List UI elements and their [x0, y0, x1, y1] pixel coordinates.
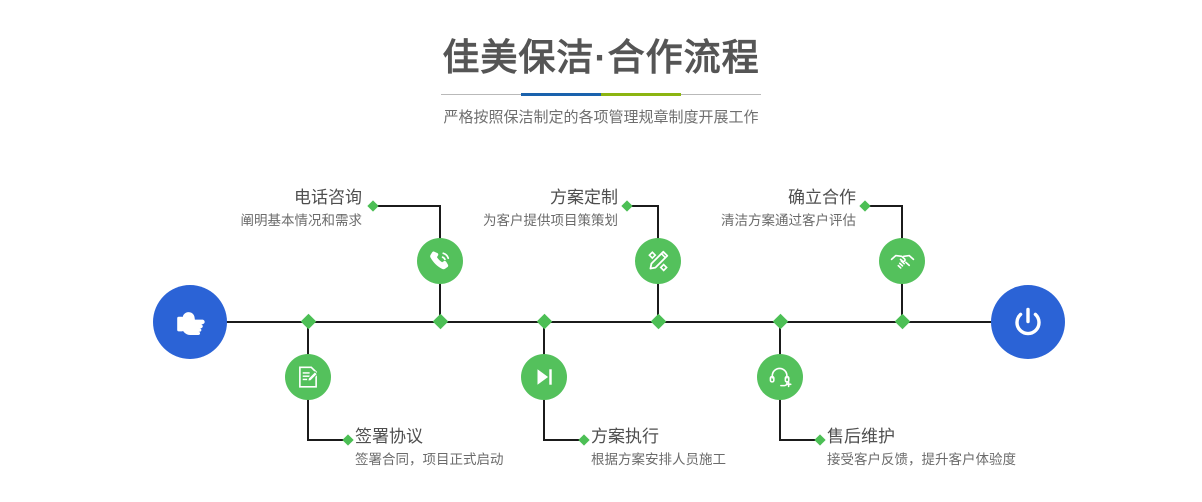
divider-segment-green: [601, 93, 681, 96]
connector-horizontal-plan-execution: [543, 439, 583, 441]
label-marker-phone-consultation: [367, 200, 378, 211]
handshake-icon: [889, 248, 916, 275]
node-label-phone-consultation: 电话咨询 阐明基本情况和需求: [210, 187, 362, 231]
pencil-ruler-icon: [645, 248, 671, 274]
connector-horizontal-sign-agreement: [307, 439, 347, 441]
node-icon-sign-agreement[interactable]: [285, 354, 331, 400]
node-desc-establish-cooperation: 清洁方案通过客户评估: [690, 211, 856, 231]
flowchart-page: 佳美保洁·合作流程 严格按照保洁制定的各项管理规章制度开展工作: [0, 0, 1202, 502]
node-icon-after-sales-maintenance[interactable]: [757, 354, 803, 400]
label-marker-sign-agreement: [342, 434, 353, 445]
axis-marker-sign-agreement: [301, 314, 317, 330]
document-pen-icon: [295, 364, 321, 390]
connector-horizontal-phone-consultation: [373, 205, 441, 207]
node-title-sign-agreement: 签署协议: [355, 426, 504, 448]
node-desc-phone-consultation: 阐明基本情况和需求: [210, 211, 362, 231]
node-title-plan-execution: 方案执行: [591, 426, 726, 448]
node-icon-plan-customization[interactable]: [635, 238, 681, 284]
pointing-hand-icon: [170, 302, 210, 342]
timeline-axis: [155, 321, 1047, 323]
node-label-plan-customization: 方案定制 为客户提供项目策策划: [452, 187, 618, 231]
play-skip-icon: [531, 364, 557, 390]
node-icon-establish-cooperation[interactable]: [879, 238, 925, 284]
node-label-sign-agreement: 签署协议 签署合同，项目正式启动: [355, 426, 504, 470]
title-divider: [441, 93, 761, 96]
node-title-establish-cooperation: 确立合作: [690, 187, 856, 209]
phone-call-icon: [426, 247, 454, 275]
node-desc-plan-customization: 为客户提供项目策策划: [452, 211, 618, 231]
node-icon-phone-consultation[interactable]: [417, 238, 463, 284]
node-label-establish-cooperation: 确立合作 清洁方案通过客户评估: [690, 187, 856, 231]
node-title-plan-customization: 方案定制: [452, 187, 618, 209]
axis-marker-establish-cooperation: [895, 314, 911, 330]
axis-marker-plan-execution: [537, 314, 553, 330]
node-desc-sign-agreement: 签署合同，项目正式启动: [355, 450, 504, 470]
node-desc-after-sales-maintenance: 接受客户反馈，提升客户体验度: [827, 450, 1016, 470]
timeline-start-cap[interactable]: [153, 285, 227, 359]
divider-segment-blue: [521, 93, 601, 96]
node-title-after-sales-maintenance: 售后维护: [827, 426, 1016, 448]
node-title-phone-consultation: 电话咨询: [210, 187, 362, 209]
label-marker-plan-customization: [621, 200, 632, 211]
page-subtitle: 严格按照保洁制定的各项管理规章制度开展工作: [0, 107, 1202, 129]
axis-marker-phone-consultation: [433, 314, 449, 330]
label-marker-after-sales-maintenance: [814, 434, 825, 445]
node-desc-plan-execution: 根据方案安排人员施工: [591, 450, 726, 470]
node-label-after-sales-maintenance: 售后维护 接受客户反馈，提升客户体验度: [827, 426, 1016, 470]
label-marker-establish-cooperation: [859, 200, 870, 211]
node-icon-plan-execution[interactable]: [521, 354, 567, 400]
connector-horizontal-after-sales-maintenance: [779, 439, 819, 441]
power-icon: [1008, 302, 1048, 342]
label-marker-plan-execution: [578, 434, 589, 445]
node-label-plan-execution: 方案执行 根据方案安排人员施工: [591, 426, 726, 470]
timeline-end-cap[interactable]: [991, 285, 1065, 359]
headset-support-icon: [767, 364, 793, 390]
axis-marker-plan-customization: [651, 314, 667, 330]
axis-marker-after-sales-maintenance: [773, 314, 789, 330]
page-title: 佳美保洁·合作流程: [0, 36, 1202, 80]
